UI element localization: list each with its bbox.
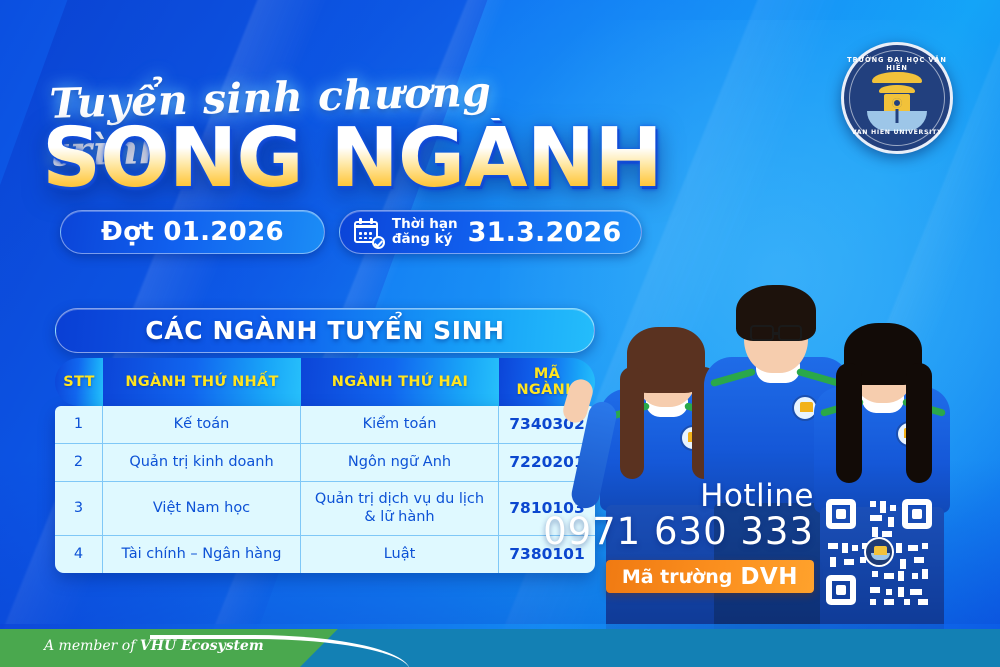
table-head: STT NGÀNH THỨ NHẤT NGÀNH THỨ HAI MÃ NGÀN…: [55, 358, 595, 406]
deadline-label-line2: đăng ký: [392, 232, 458, 247]
university-gate-logo-icon: TRƯỜNG ĐẠI HỌC VĂN HIẾN 1997 VAN HIEN UN…: [841, 42, 953, 154]
calendar-check-icon: [354, 218, 382, 246]
majors-table-wrapper: STT NGÀNH THỨ NHẤT NGÀNH THỨ HAI MÃ NGÀN…: [55, 358, 595, 573]
banner-canvas: Tuyển sinh chương trình SONG NGÀNH SONG …: [0, 0, 1000, 667]
intake-badge[interactable]: Đợt 01.2026: [60, 210, 325, 254]
cell-first: Việt Nam học: [103, 482, 301, 536]
hotline-label: Hotline: [543, 480, 814, 513]
logo-bottom-text: VAN HIEN UNIVERSITY: [844, 129, 950, 137]
footer-brand: VHU Ecosystem: [140, 638, 264, 654]
logo-top-text: TRƯỜNG ĐẠI HỌC VĂN HIẾN: [844, 56, 950, 72]
hotline-block: Hotline 0971 630 333 Mã trường DVH: [543, 480, 814, 593]
school-code-label: Mã trường: [622, 566, 733, 588]
cell-first: Quản trị kinh doanh: [103, 444, 301, 482]
hotline-number[interactable]: 0971 630 333: [543, 512, 814, 553]
footer-text: A member of VHU Ecosystem: [44, 638, 264, 654]
cell-second: Ngôn ngữ Anh: [301, 444, 499, 482]
intake-badge-label: Đợt 01.2026: [101, 217, 284, 247]
col-header-stt: STT: [55, 358, 103, 406]
cell-stt: 1: [55, 406, 103, 444]
section-title: CÁC NGÀNH TUYỂN SINH: [55, 308, 595, 353]
school-code-value: DVH: [740, 564, 798, 590]
col-header-first: NGÀNH THỨ NHẤT: [103, 358, 301, 406]
cell-first: Tài chính – Ngân hàng: [103, 536, 301, 573]
footer-bar: A member of VHU Ecosystem: [0, 629, 1000, 667]
cell-second: Luật: [301, 536, 499, 573]
deadline-label-line1: Thời hạn: [392, 217, 458, 232]
table-row: 1 Kế toán Kiểm toán 7340302: [55, 406, 595, 444]
cell-first: Kế toán: [103, 406, 301, 444]
cell-second: Kiểm toán: [301, 406, 499, 444]
cell-stt: 4: [55, 536, 103, 573]
cell-stt: 3: [55, 482, 103, 536]
col-header-second: NGÀNH THỨ HAI: [301, 358, 499, 406]
footer-prefix: A member of: [44, 638, 140, 654]
table-header-row: STT NGÀNH THỨ NHẤT NGÀNH THỨ HAI MÃ NGÀN…: [55, 358, 595, 406]
cell-second: Quản trị dịch vụ du lịch & lữ hành: [301, 482, 499, 536]
school-code-badge: Mã trường DVH: [606, 560, 814, 593]
table-row: 4 Tài chính – Ngân hàng Luật 7380101: [55, 536, 595, 573]
table-body: 1 Kế toán Kiểm toán 7340302 2 Quản trị k…: [55, 406, 595, 573]
majors-table: STT NGÀNH THỨ NHẤT NGÀNH THỨ HAI MÃ NGÀN…: [55, 358, 595, 573]
table-row: 3 Việt Nam học Quản trị dịch vụ du lịch …: [55, 482, 595, 536]
deadline-label: Thời hạn đăng ký: [392, 217, 458, 247]
cell-stt: 2: [55, 444, 103, 482]
qr-code-icon[interactable]: [826, 499, 932, 605]
table-row: 2 Quản trị kinh doanh Ngôn ngữ Anh 72202…: [55, 444, 595, 482]
section-title-label: CÁC NGÀNH TUYỂN SINH: [145, 316, 504, 345]
badge-row: Đợt 01.2026 Thời hạn đăng ký 31.3.2026: [60, 210, 642, 254]
